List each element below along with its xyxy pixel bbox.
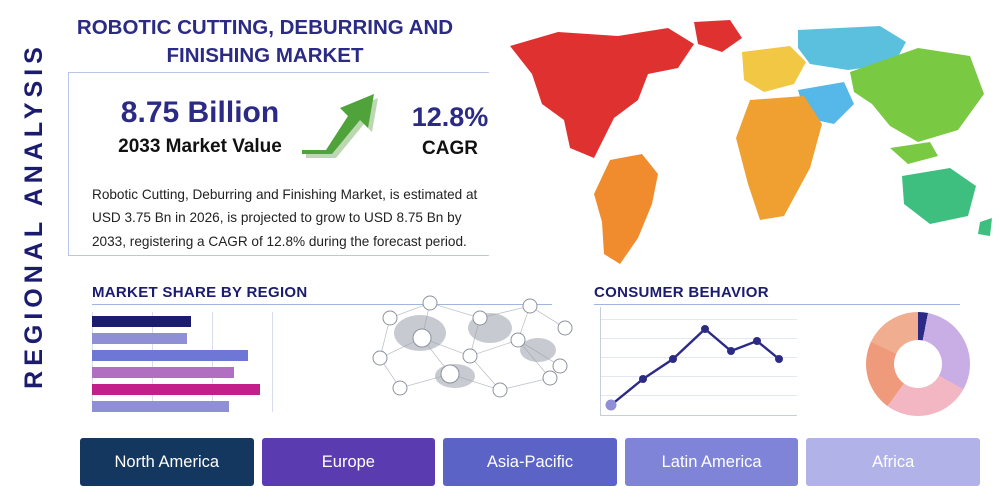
- market-share-heading: MARKET SHARE BY REGION: [92, 284, 308, 301]
- bar-middle-east: [92, 401, 229, 412]
- market-value: 8.75 Billion: [80, 96, 320, 130]
- consumer-behavior-divider: [594, 304, 960, 305]
- consumer-behavior-line-chart: [600, 307, 797, 416]
- market-description: Robotic Cutting, Deburring and Finishing…: [92, 183, 488, 253]
- map-region-africa: [736, 96, 822, 220]
- infographic-root: REGIONAL ANALYSIS ROBOTIC CUTTING, DEBUR…: [0, 0, 1000, 500]
- page-title: ROBOTIC CUTTING, DEBURRING AND FINISHING…: [40, 14, 490, 69]
- bar-asia-pacific: [92, 350, 248, 361]
- consumer-behavior-heading: CONSUMER BEHAVIOR: [594, 284, 769, 301]
- map-region-north-america: [510, 28, 694, 158]
- world-map: [498, 8, 998, 278]
- vertical-section-label-text: REGIONAL ANALYSIS: [20, 42, 49, 389]
- map-region-new-zealand: [978, 218, 992, 236]
- region-button-bar: North America Europe Asia-Pacific Latin …: [80, 438, 980, 486]
- donut-center: [894, 340, 942, 388]
- region-button-europe[interactable]: Europe: [262, 438, 436, 486]
- region-button-north-america[interactable]: North America: [80, 438, 254, 486]
- region-button-latin-america-label: Latin America: [662, 453, 762, 472]
- map-region-greenland: [694, 20, 742, 52]
- map-region-south-america: [594, 154, 658, 264]
- region-button-africa[interactable]: Africa: [806, 438, 980, 486]
- bar-north-america: [92, 316, 191, 327]
- region-button-asia-pacific[interactable]: Asia-Pacific: [443, 438, 617, 486]
- bar-latin-america: [92, 367, 234, 378]
- map-region-oceania: [902, 168, 976, 224]
- bar-africa: [92, 384, 260, 395]
- market-value-caption: 2033 Market Value: [80, 136, 320, 158]
- map-region-europe: [742, 46, 806, 92]
- region-button-latin-america[interactable]: Latin America: [625, 438, 799, 486]
- region-button-africa-label: Africa: [872, 453, 914, 472]
- map-region-indonesia: [890, 142, 938, 164]
- global-network-icon: [360, 278, 595, 418]
- region-button-asia-pacific-label: Asia-Pacific: [487, 453, 573, 472]
- region-button-europe-label: Europe: [322, 453, 375, 472]
- bar-europe: [92, 333, 187, 344]
- growth-arrow-icon: [300, 82, 390, 162]
- region-button-north-america-label: North America: [115, 453, 220, 472]
- market-share-bar-chart: [92, 312, 277, 412]
